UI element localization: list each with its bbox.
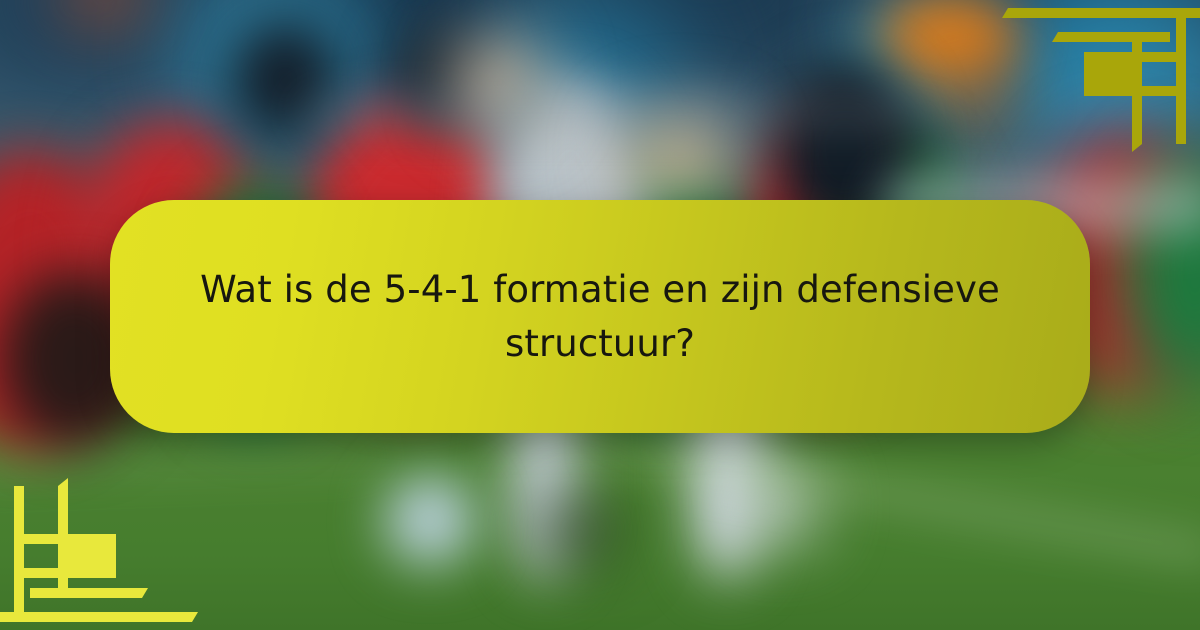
bg-touchline-haze (300, 100, 920, 126)
bg-soccer-ball (385, 475, 475, 565)
share-card-canvas: Wat is de 5-4-1 formatie en zijn defensi… (0, 0, 1200, 630)
question-text: Wat is de 5-4-1 formatie en zijn defensi… (200, 263, 1000, 370)
bg-orange-accent-2 (930, 70, 1020, 130)
bg-boot-dark (540, 500, 620, 560)
question-card: Wat is de 5-4-1 formatie en zijn defensi… (110, 200, 1090, 433)
bg-pitch-line-2 (0, 448, 380, 477)
